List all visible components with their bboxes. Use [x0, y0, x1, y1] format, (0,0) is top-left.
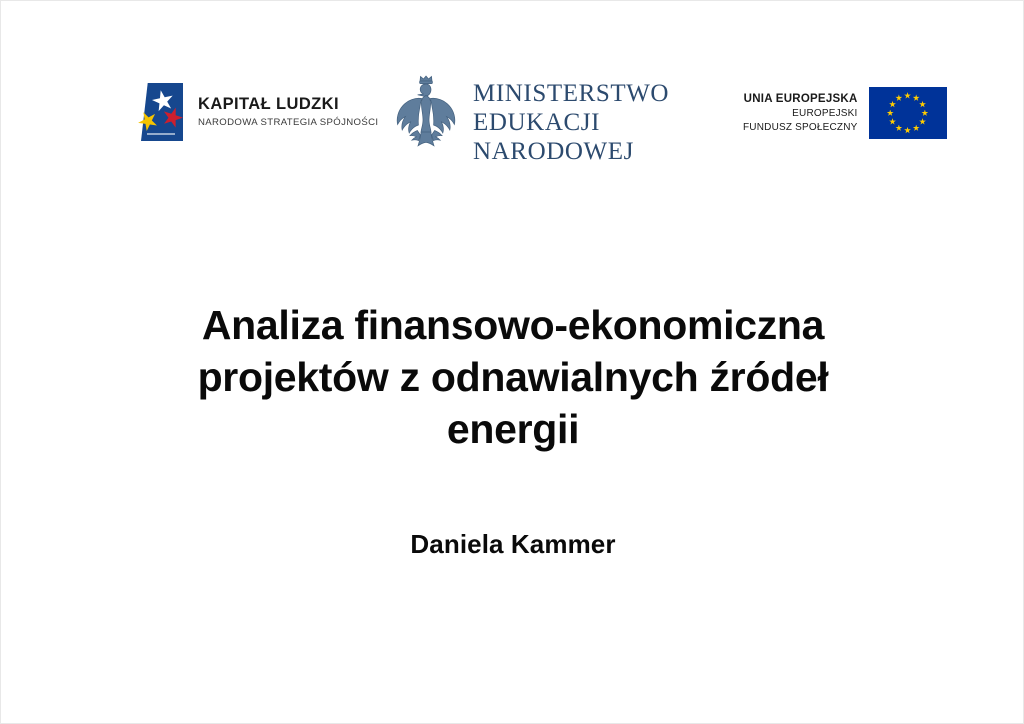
- mark-baseline-rule: [147, 133, 175, 135]
- ministerstwo-text-block: MINISTERSTWO EDUKACJI NARODOWEJ: [473, 79, 669, 166]
- title-line-3: energii: [113, 403, 913, 455]
- eu-flag-star-icon: [895, 125, 902, 132]
- unia-europejska-text-block: UNIA EUROPEJSKA EUROPEJSKI FUNDUSZ SPOŁE…: [743, 92, 858, 134]
- kapital-ludzki-subtitle: NARODOWA STRATEGIA SPÓJNOŚCI: [198, 118, 378, 128]
- eu-flag-star-icon: [904, 127, 911, 134]
- european-union-flag-icon: [869, 87, 947, 139]
- title-line-2: projektów z odnawialnych źródeł: [113, 351, 913, 403]
- men-line-1: MINISTERSTWO: [473, 79, 669, 108]
- eu-flag-star-icon: [921, 110, 928, 117]
- eu-line-3: FUNDUSZ SPOŁECZNY: [743, 121, 858, 134]
- eu-flag-star-icon: [887, 110, 894, 117]
- eu-flag-star-icon: [889, 101, 896, 108]
- polish-eagle-emblem-icon: [393, 73, 459, 161]
- men-line-3: NARODOWEJ: [473, 137, 669, 166]
- slide-title: Analiza finansowo-ekonomiczna projektów …: [113, 299, 913, 455]
- eu-flag-star-icon: [889, 118, 896, 125]
- presentation-slide: KAPITAŁ LUDZKI NARODOWA STRATEGIA SPÓJNO…: [0, 0, 1024, 724]
- eu-flag-star-icon: [919, 118, 926, 125]
- men-line-2: EDUKACJI: [473, 108, 669, 137]
- author-name: Daniela Kammer: [113, 529, 913, 560]
- eu-flag-star-icon: [913, 125, 920, 132]
- eu-flag-star-icon: [904, 92, 911, 99]
- eu-line-1: UNIA EUROPEJSKA: [743, 92, 858, 107]
- eu-flag-star-icon: [913, 94, 920, 101]
- kapital-ludzki-title: KAPITAŁ LUDZKI: [198, 96, 378, 113]
- unia-europejska-logo: UNIA EUROPEJSKA EUROPEJSKI FUNDUSZ SPOŁE…: [743, 87, 947, 139]
- eu-flag-star-icon: [895, 94, 902, 101]
- ministerstwo-edukacji-narodowej-logo: MINISTERSTWO EDUKACJI NARODOWEJ: [393, 69, 669, 166]
- eu-line-2: EUROPEJSKI: [743, 107, 858, 120]
- kapital-ludzki-mark-icon: [137, 83, 185, 141]
- title-line-1: Analiza finansowo-ekonomiczna: [113, 299, 913, 351]
- kapital-ludzki-logo: KAPITAŁ LUDZKI NARODOWA STRATEGIA SPÓJNO…: [137, 83, 378, 141]
- kapital-ludzki-text: KAPITAŁ LUDZKI NARODOWA STRATEGIA SPÓJNO…: [198, 96, 378, 127]
- eu-flag-star-icon: [919, 101, 926, 108]
- sponsor-logo-bar: KAPITAŁ LUDZKI NARODOWA STRATEGIA SPÓJNO…: [1, 63, 1024, 168]
